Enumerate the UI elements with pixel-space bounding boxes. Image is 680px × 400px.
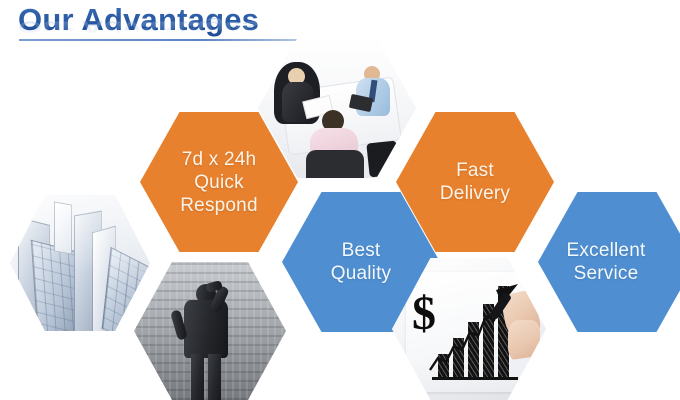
page-title: Our Advantages [18,2,358,38]
title-underline [19,39,319,41]
hex-label-quick-respond: 7d x 24h Quick Respond [172,148,265,217]
businessman-skyline-photo [134,262,286,400]
glass-skyscrapers-photo [10,195,150,331]
hex-excellent-service[interactable]: Excellent Service [538,192,680,332]
hex-label-fast-delivery: Fast Delivery [432,159,518,205]
slide-canvas: Our Advantages Our Advantages 7 [0,0,680,400]
hex-buildings-photo [10,195,150,331]
hex-businessman-photo [134,262,286,400]
hex-label-excellent-service: Excellent Service [559,239,654,285]
hex-label-best-quality: Best Quality [323,239,400,285]
